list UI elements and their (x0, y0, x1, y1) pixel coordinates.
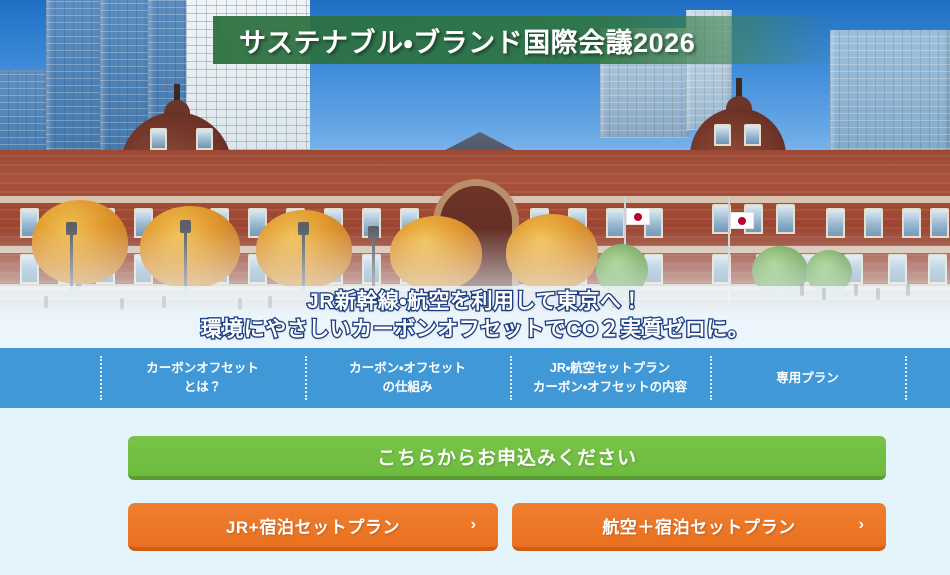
nav-item-label: JR・航空セットプラン カーボン・オフセットの内容 (533, 359, 687, 397)
air-lodging-set-plan-button[interactable]: 航空＋宿泊セットプラン › (512, 503, 886, 551)
event-title: サステナブル・ブランド国際会議2026 (239, 21, 695, 60)
jr-lodging-set-plan-button[interactable]: JR+宿泊セットプラン › (128, 503, 498, 551)
jr-lodging-set-plan-label: JR+宿泊セットプラン (226, 513, 400, 538)
chevron-right-icon: › (471, 517, 476, 533)
nav-item-line-2: カーボン・オフセットの内容 (533, 380, 687, 394)
nav-item-line-1: カーボン・オフセット (349, 361, 466, 375)
dormer-window (196, 128, 213, 150)
event-title-band: サステナブル・ブランド国際会議2026 (213, 16, 833, 64)
hero-headline-line-2: 環境にやさしいカーボンオフセットでCO２実質ゼロに。 (0, 316, 950, 344)
air-lodging-set-plan-label: 航空＋宿泊セットプラン (602, 513, 796, 538)
nav-divider (305, 356, 307, 400)
skyline-tower (830, 30, 950, 170)
nav-item-line-1: JR・航空セットプラン (550, 361, 670, 375)
nav-divider (100, 356, 102, 400)
japan-flag (730, 212, 754, 229)
nav-item-label: カーボンオフセット とは？ (146, 359, 259, 397)
cta-section: こちらからお申込みください JR+宿泊セットプラン › 航空＋宿泊セットプラン … (0, 408, 950, 575)
japan-flag (626, 208, 650, 225)
section-nav: カーボンオフセット とは？ カーボン・オフセット の仕組み JR・航空セットプラ… (0, 348, 950, 408)
nav-divider (905, 356, 907, 400)
apply-here-button-label: こちらからお申込みください (377, 443, 637, 470)
nav-item-line-1: カーボンオフセット (146, 361, 259, 375)
hero-headline: JR新幹線・航空を利用して東京へ！ 環境にやさしいカーボンオフセットでCO２実質… (0, 288, 950, 345)
nav-item-carbon-offset-mechanism[interactable]: カーボン・オフセット の仕組み (305, 348, 510, 408)
nav-item-line-2: とは？ (184, 380, 222, 394)
nav-item-jr-air-set-plan-contents[interactable]: JR・航空セットプラン カーボン・オフセットの内容 (510, 348, 710, 408)
nav-item-label: 専用プラン (776, 369, 839, 388)
hero-headline-line-1: JR新幹線・航空を利用して東京へ！ (0, 288, 950, 316)
page-root: サステナブル・ブランド国際会議2026 JR新幹線・航空を利用して東京へ！ 環境… (0, 0, 950, 575)
apply-here-button[interactable]: こちらからお申込みください (128, 436, 886, 480)
dormer-window (150, 128, 167, 150)
dormer-window (744, 124, 761, 146)
nav-item-dedicated-plan[interactable]: 専用プラン (710, 348, 905, 408)
hero-banner: サステナブル・ブランド国際会議2026 JR新幹線・航空を利用して東京へ！ 環境… (0, 0, 950, 348)
nav-divider (510, 356, 512, 400)
nav-item-line-2: の仕組み (382, 380, 432, 394)
nav-divider (710, 356, 712, 400)
nav-item-label: カーボン・オフセット の仕組み (349, 359, 466, 397)
nav-item-what-is-carbon-offset[interactable]: カーボンオフセット とは？ (100, 348, 305, 408)
chevron-right-icon: › (859, 517, 864, 533)
dormer-window (714, 124, 731, 146)
